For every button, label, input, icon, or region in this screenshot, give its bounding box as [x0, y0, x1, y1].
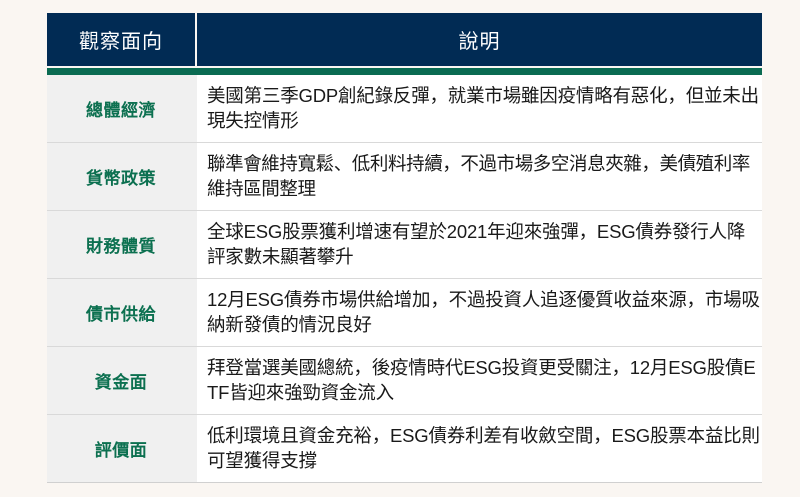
description-text-macro-economy: 美國第三季GDP創紀錄反彈，就業市場雖因疫情略有惡化，但並未出現失控情形: [207, 84, 762, 134]
table-row: 評價面 低利環境且資金充裕，ESG債券利差有收斂空間，ESG股票本益比則可望獲得…: [47, 415, 762, 483]
table-cell-description: 全球ESG股票獲利增速有望於2021年迎來強彈，ESG債券發行人降評家數未顯著攀…: [195, 211, 762, 278]
green-accent-divider: [47, 68, 762, 75]
table-cell-description: 聯準會維持寬鬆、低利料持續，不過市場多空消息夾雜，美債殖利率維持區間整理: [195, 143, 762, 210]
table-cell-aspect: 總體經濟: [47, 75, 195, 142]
table-cell-description: 拜登當選美國總統，後疫情時代ESG投資更受關注，12月ESG股債ETF皆迎來強勁…: [195, 347, 762, 414]
table-cell-aspect: 財務體質: [47, 211, 195, 278]
description-text-bond-supply: 12月ESG債券市場供給增加，不過投資人追逐優質收益來源，市場吸納新發債的情況良…: [207, 288, 762, 338]
table-header-aspect-label: 觀察面向: [79, 25, 163, 54]
table-body: 總體經濟 美國第三季GDP創紀錄反彈，就業市場雖因疫情略有惡化，但並未出現失控情…: [47, 75, 762, 483]
table-header-aspect: 觀察面向: [47, 13, 195, 66]
table-row: 債市供給 12月ESG債券市場供給增加，不過投資人追逐優質收益來源，市場吸納新發…: [47, 279, 762, 347]
table-row: 貨幣政策 聯準會維持寬鬆、低利料持續，不過市場多空消息夾雜，美債殖利率維持區間整…: [47, 143, 762, 211]
description-text-valuation: 低利環境且資金充裕，ESG債券利差有收斂空間，ESG股票本益比則可望獲得支撐: [207, 424, 762, 474]
description-text-financial-health: 全球ESG股票獲利增速有望於2021年迎來強彈，ESG債券發行人降評家數未顯著攀…: [207, 220, 762, 270]
table-header-description: 說明: [197, 13, 762, 66]
table-header-row: 觀察面向 說明: [47, 13, 762, 66]
table-cell-aspect: 貨幣政策: [47, 143, 195, 210]
aspect-label-valuation: 評價面: [95, 436, 148, 461]
aspect-label-capital-flows: 資金面: [95, 368, 148, 393]
aspect-label-monetary-policy: 貨幣政策: [86, 164, 156, 189]
aspect-label-macro-economy: 總體經濟: [86, 96, 156, 121]
aspect-label-bond-supply: 債市供給: [86, 300, 156, 325]
table-row: 財務體質 全球ESG股票獲利增速有望於2021年迎來強彈，ESG債券發行人降評家…: [47, 211, 762, 279]
table-cell-aspect: 評價面: [47, 415, 195, 482]
table-row: 總體經濟 美國第三季GDP創紀錄反彈，就業市場雖因疫情略有惡化，但並未出現失控情…: [47, 75, 762, 143]
table-cell-description: 12月ESG債券市場供給增加，不過投資人追逐優質收益來源，市場吸納新發債的情況良…: [195, 279, 762, 346]
table-row: 資金面 拜登當選美國總統，後疫情時代ESG投資更受關注，12月ESG股債ETF皆…: [47, 347, 762, 415]
description-text-monetary-policy: 聯準會維持寬鬆、低利料持續，不過市場多空消息夾雜，美債殖利率維持區間整理: [207, 152, 762, 202]
table-cell-description: 美國第三季GDP創紀錄反彈，就業市場雖因疫情略有惡化，但並未出現失控情形: [195, 75, 762, 142]
aspect-label-financial-health: 財務體質: [86, 232, 156, 257]
description-text-capital-flows: 拜登當選美國總統，後疫情時代ESG投資更受關注，12月ESG股債ETF皆迎來強勁…: [207, 356, 762, 406]
table-cell-description: 低利環境且資金充裕，ESG債券利差有收斂空間，ESG股票本益比則可望獲得支撐: [195, 415, 762, 482]
table-cell-aspect: 債市供給: [47, 279, 195, 346]
table-cell-aspect: 資金面: [47, 347, 195, 414]
observation-table: 觀察面向 說明 總體經濟 美國第三季GDP創紀錄反彈，就業市場雖因疫情略有惡化，…: [47, 13, 762, 477]
table-header-description-label: 說明: [459, 25, 501, 54]
